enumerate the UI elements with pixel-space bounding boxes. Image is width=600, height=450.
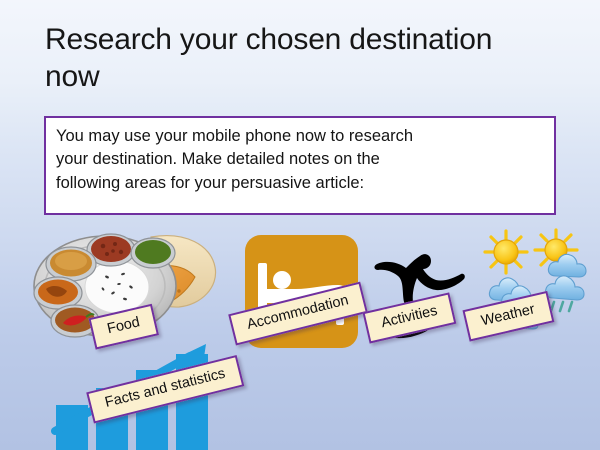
slide: Research your chosen destination now You… (0, 0, 600, 450)
instructions-text: You may use your mobile phone now to res… (46, 118, 554, 195)
page-title: Research your chosen destination now (45, 22, 565, 96)
illustration-area (0, 218, 600, 450)
instructions-textbox: You may use your mobile phone now to res… (44, 116, 556, 215)
